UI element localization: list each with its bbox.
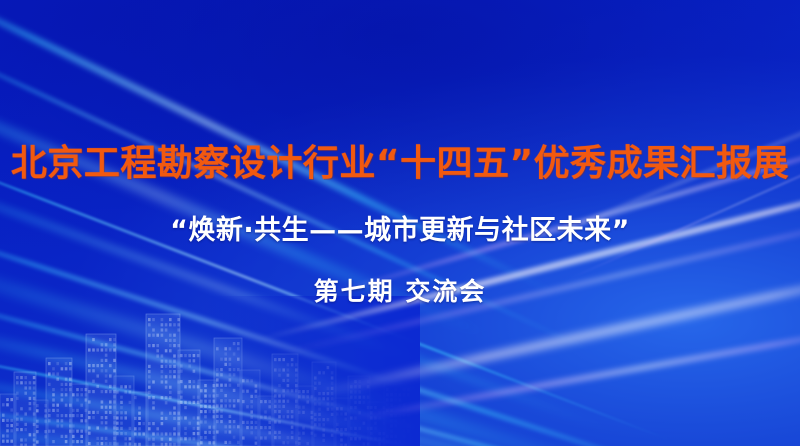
page-title: 北京工程勘察设计行业“十四五”优秀成果汇报展 — [0, 134, 800, 186]
banner-subtitle: “焕新·共生——城市更新与社区未来” — [0, 208, 800, 247]
event-banner: 北京工程勘察设计行业“十四五”优秀成果汇报展 “焕新·共生——城市更新与社区未来… — [0, 0, 800, 446]
banner-text-block: 北京工程勘察设计行业“十四五”优秀成果汇报展 “焕新·共生——城市更新与社区未来… — [0, 0, 800, 446]
banner-session-line: 第七期 交流会 — [0, 272, 800, 308]
